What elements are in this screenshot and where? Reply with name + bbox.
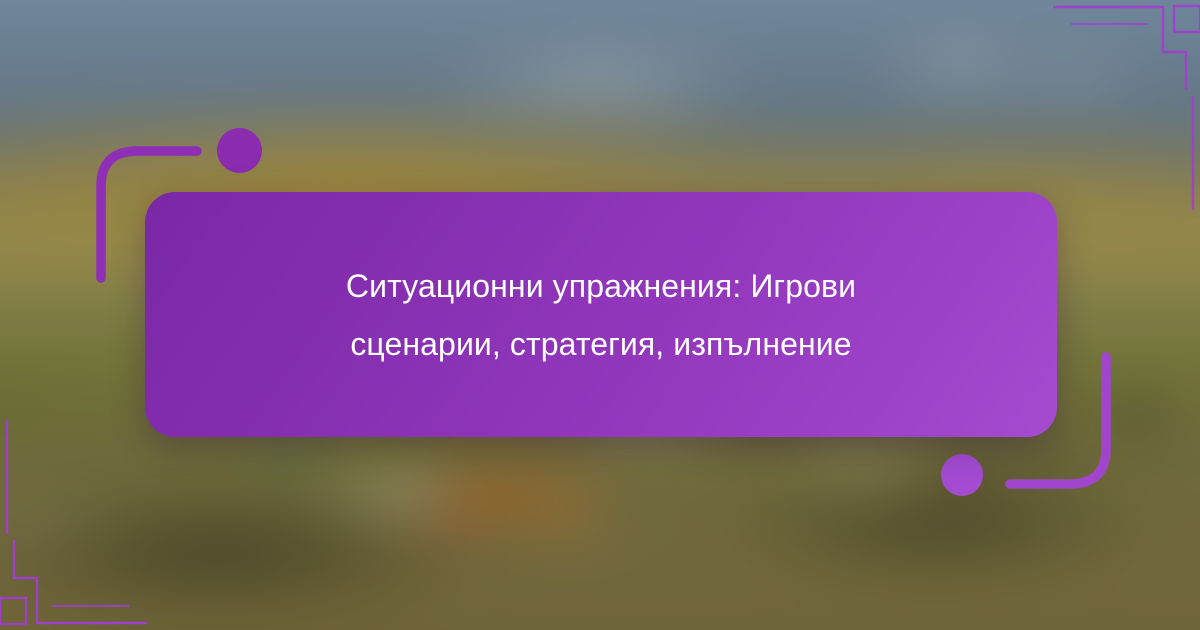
dot-bottom-icon [941,454,983,496]
page-title: Ситуационни упражнения: Игрови сценарии,… [281,257,921,373]
title-card: Ситуационни упражнения: Игрови сценарии,… [145,192,1057,437]
dot-top-icon [217,128,262,173]
social-card-canvas: Ситуационни упражнения: Игрови сценарии,… [0,0,1200,630]
